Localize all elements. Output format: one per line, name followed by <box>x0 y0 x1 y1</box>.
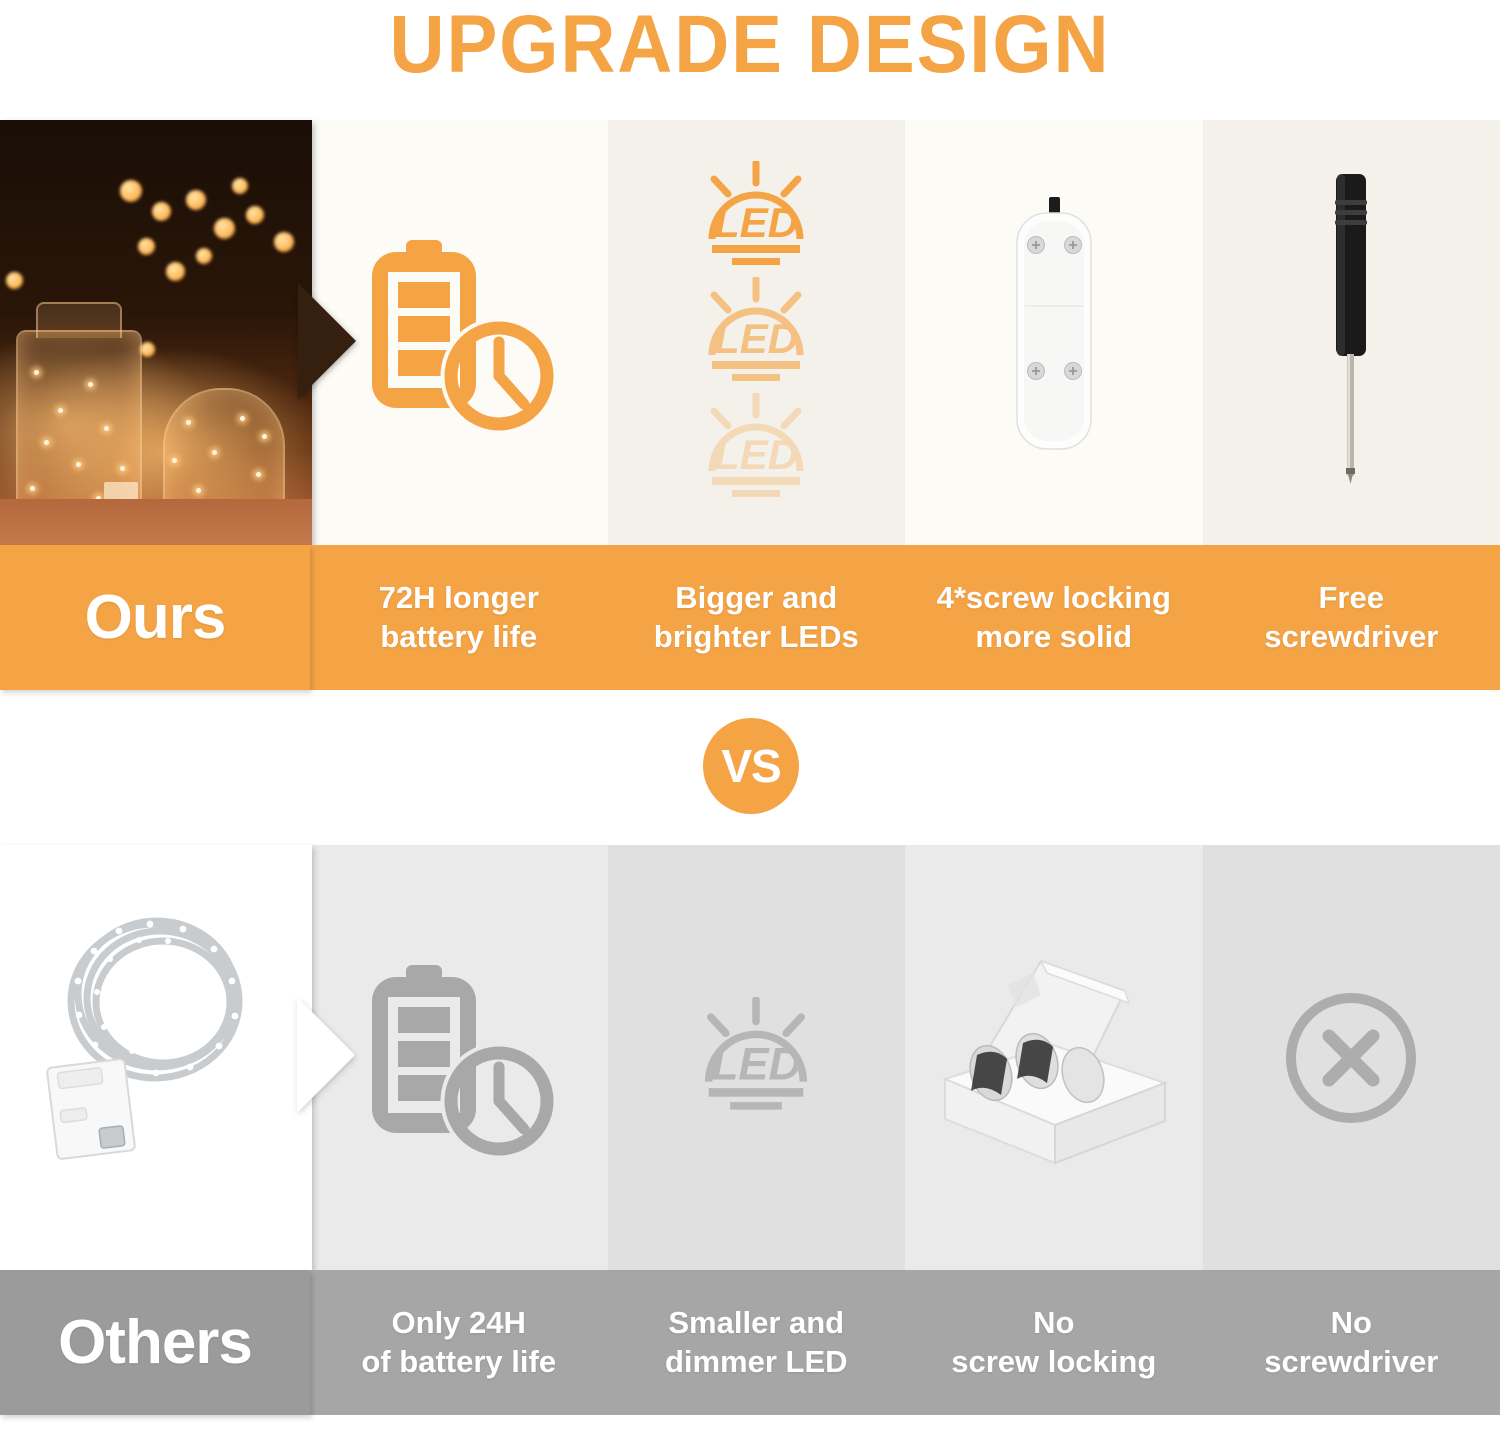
others-column-battery-box <box>905 845 1203 1270</box>
others-column-led: LED <box>608 845 906 1270</box>
others-feature-screwdriver-line2: screwdriver <box>1264 1343 1438 1382</box>
svg-text:LED: LED <box>714 199 798 246</box>
others-feature-led-line2: dimmer LED <box>665 1343 848 1382</box>
others-feature-bar: Only 24H of battery life Smaller and dim… <box>310 1270 1500 1415</box>
white-battery-pack-icon <box>989 193 1119 473</box>
ours-feature-screws-line1: 4*screw locking <box>937 579 1171 618</box>
others-feature-battery-line1: Only 24H <box>392 1304 526 1343</box>
ours-icon-columns: LED LED <box>310 120 1500 545</box>
page-title: UPGRADE DESIGN <box>53 0 1448 97</box>
svg-text:LED: LED <box>714 431 798 478</box>
others-feature-battery-line2: of battery life <box>361 1343 556 1382</box>
ours-label: Ours <box>85 587 226 649</box>
battery-clock-icon <box>354 953 564 1163</box>
ours-feature-led-line1: Bigger and <box>675 579 837 618</box>
vs-badge: VS <box>703 718 799 814</box>
svg-text:LED: LED <box>711 1038 801 1089</box>
screwdriver-icon <box>1306 168 1396 498</box>
ours-column-screwdriver <box>1203 120 1500 545</box>
ours-label-cell: Ours <box>0 545 310 690</box>
ours-feature-led: Bigger and brighter LEDs <box>608 545 906 690</box>
led-bulb-icon-dim: LED <box>690 393 822 505</box>
others-feature-screws-line2: screw locking <box>951 1343 1156 1382</box>
ours-product-photo <box>0 120 312 545</box>
ours-feature-screwdriver-line2: screwdriver <box>1264 618 1438 657</box>
coiled-string-light-image <box>0 845 312 1270</box>
ours-feature-screws: 4*screw locking more solid <box>905 545 1203 690</box>
others-feature-screws: No screw locking <box>905 1270 1203 1415</box>
others-icon-columns: LED <box>310 845 1500 1270</box>
svg-text:LED: LED <box>714 315 798 362</box>
ours-feature-screwdriver: Free screwdriver <box>1203 545 1500 690</box>
others-panel: LED <box>0 845 1500 1431</box>
ours-feature-battery: 72H longer battery life <box>310 545 608 690</box>
led-bulb-icon: LED <box>685 997 827 1119</box>
others-column-no-screwdriver <box>1203 845 1500 1270</box>
others-label: Others <box>58 1312 252 1374</box>
led-bulb-icon-medium: LED <box>690 277 822 389</box>
ours-feature-screws-line2: more solid <box>975 618 1132 657</box>
others-feature-screwdriver-line1: No <box>1331 1304 1372 1343</box>
open-battery-box-icon <box>929 933 1179 1183</box>
others-feature-led: Smaller and dimmer LED <box>608 1270 906 1415</box>
vs-label: VS <box>721 743 780 789</box>
battery-clock-icon <box>354 228 564 438</box>
others-label-cell: Others <box>0 1270 310 1415</box>
others-product-photo <box>0 845 312 1270</box>
ours-feature-bar: 72H longer battery life Bigger and brigh… <box>310 545 1500 690</box>
others-arrow-icon <box>297 997 355 1113</box>
ours-feature-screwdriver-line1: Free <box>1319 579 1384 618</box>
ours-panel: LED LED <box>0 120 1500 690</box>
ours-feature-battery-line1: 72H longer <box>379 579 539 618</box>
others-feature-led-line1: Smaller and <box>668 1304 844 1343</box>
ours-feature-battery-line2: battery life <box>380 618 537 657</box>
ours-arrow-icon <box>298 283 356 399</box>
others-feature-screwdriver: No screwdriver <box>1203 1270 1500 1415</box>
ours-column-battery-pack <box>905 120 1203 545</box>
ours-column-led: LED LED <box>608 120 906 545</box>
led-bulb-icon-bright: LED <box>690 161 822 273</box>
others-feature-battery: Only 24H of battery life <box>310 1270 608 1415</box>
ours-feature-led-line2: brighter LEDs <box>654 618 859 657</box>
others-feature-screws-line1: No <box>1033 1304 1074 1343</box>
circle-x-icon <box>1276 983 1426 1133</box>
